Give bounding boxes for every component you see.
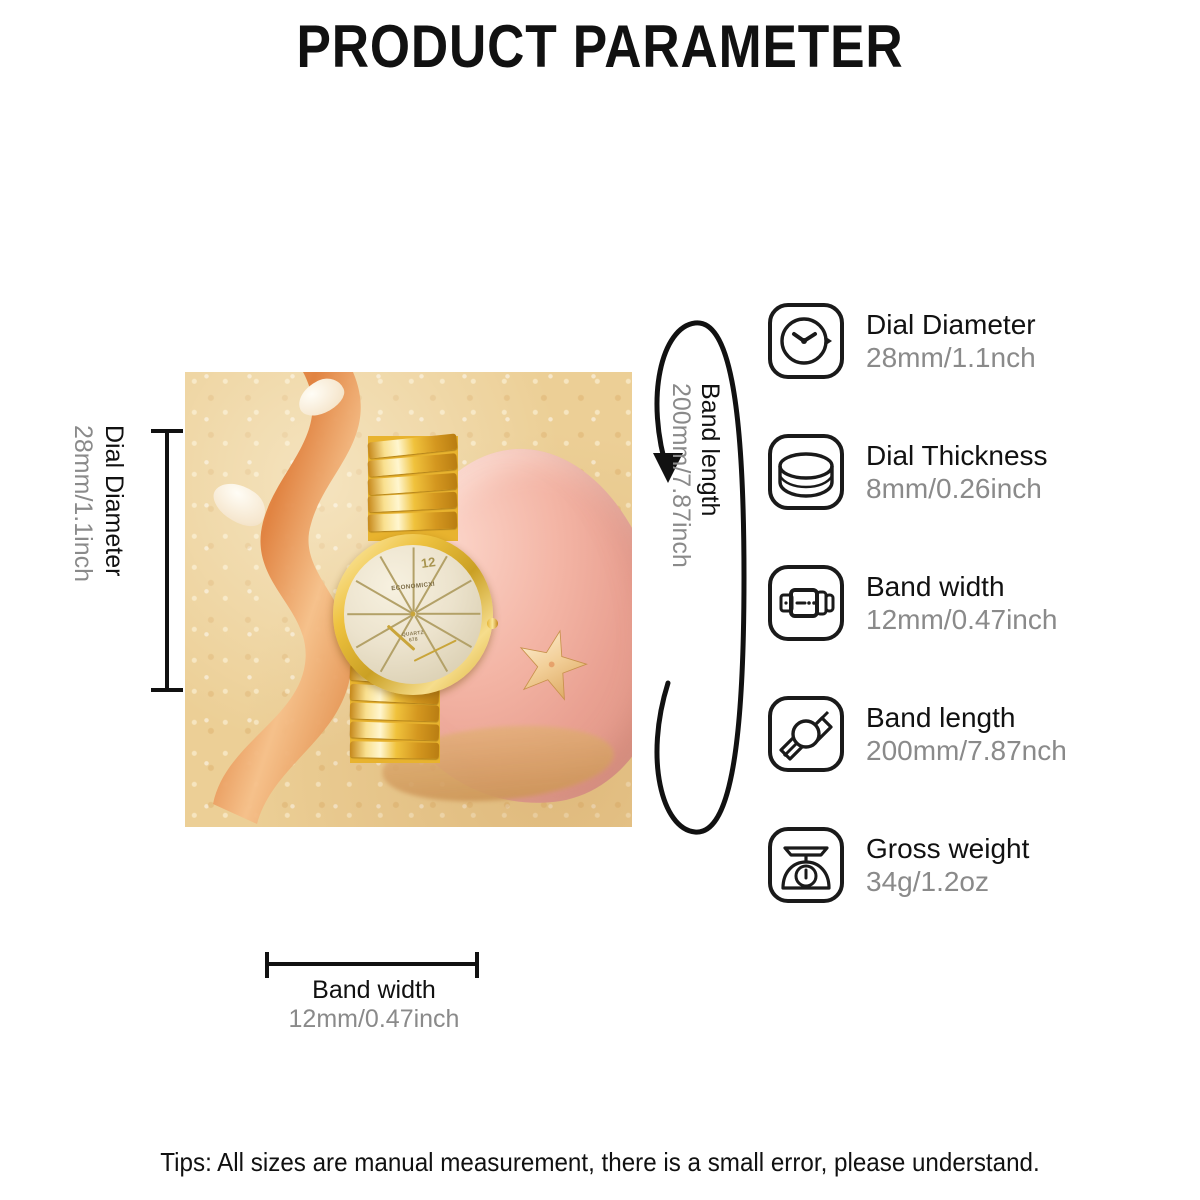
spec-label: Band length (866, 702, 1067, 733)
band-length-icon (768, 696, 844, 772)
spec-row-dial-diameter: Dial Diameter 28mm/1.1nch (768, 303, 1036, 379)
tips-text: Tips: All sizes are manual measurement, … (42, 1147, 1158, 1178)
watch-dial-icon (768, 303, 844, 379)
dimension-line-horizontal (266, 962, 479, 966)
spec-value: 28mm/1.1nch (866, 342, 1036, 373)
dial-center-pin (410, 612, 415, 617)
watch-dial: 12 ECONOMICXI QUARTZ 678 (344, 545, 482, 683)
band-width-icon (768, 565, 844, 641)
product-photo: 12 ECONOMICXI QUARTZ 678 (185, 372, 632, 827)
spec-value: 8mm/0.26inch (866, 473, 1048, 504)
spec-label: Dial Diameter (866, 309, 1036, 340)
dimension-value: 200mm/7.87inch (666, 383, 695, 568)
spec-row-band-width: Band width 12mm/0.47inch (768, 565, 1057, 641)
dial-diameter-dimension: Dial Diameter 28mm/1.1inch (38, 425, 158, 715)
spec-row-gross-weight: Gross weight 34g/1.2oz (768, 827, 1029, 903)
dimension-value: 12mm/0.47inch (248, 1005, 500, 1034)
weight-scale-icon (768, 827, 844, 903)
watch-case: 12 ECONOMICXI QUARTZ 678 (333, 534, 494, 695)
product-parameter-infographic: PRODUCT PARAMETER (0, 0, 1200, 1200)
page-title: PRODUCT PARAMETER (84, 12, 1116, 81)
dial-numeral-12: 12 (420, 554, 436, 571)
spec-value: 200mm/7.87nch (866, 735, 1067, 766)
spec-label: Band width (866, 571, 1057, 602)
dimension-value: 28mm/1.1inch (68, 425, 97, 582)
minute-hand (414, 640, 457, 663)
dimension-line-vertical (165, 431, 169, 690)
dimension-cap-right (475, 952, 479, 978)
spec-row-dial-thickness: Dial Thickness 8mm/0.26inch (768, 434, 1048, 510)
spec-value: 12mm/0.47inch (866, 604, 1057, 635)
watch-crown (487, 618, 498, 629)
wristwatch: 12 ECONOMICXI QUARTZ 678 (301, 436, 525, 764)
dimension-label: Band length (695, 383, 724, 516)
dial-thickness-icon (768, 434, 844, 510)
spec-value: 34g/1.2oz (866, 866, 1029, 897)
watch-band-upper (368, 436, 457, 541)
spec-row-band-length: Band length 200mm/7.87nch (768, 696, 1067, 772)
spec-label: Gross weight (866, 833, 1029, 864)
dimension-label: Dial Diameter (99, 425, 128, 576)
dimension-label: Band width (248, 976, 500, 1005)
spec-label: Dial Thickness (866, 440, 1048, 471)
band-length-dimension: Band length 200mm/7.87inch (640, 305, 750, 850)
